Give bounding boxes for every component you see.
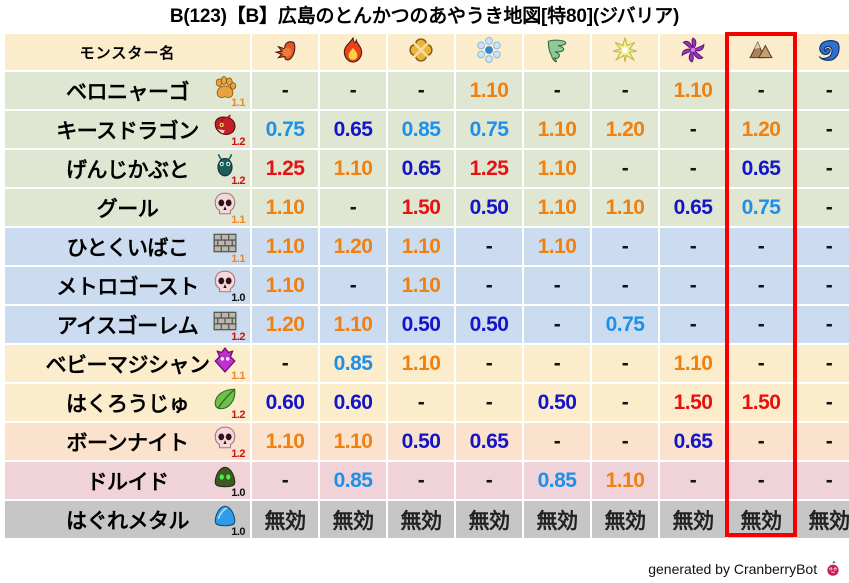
resistance-cell[interactable]: 1.10 (320, 306, 386, 343)
resistance-cell[interactable]: 1.10 (524, 150, 590, 187)
monster-version-badge: 1.2 (231, 332, 245, 343)
resistance-cell[interactable]: 1.10 (524, 111, 590, 148)
monster-name-cell[interactable]: ひとくいばこ1.1 (5, 228, 250, 265)
monster-name-cell[interactable]: ボーンナイト1.2 (5, 423, 250, 460)
resistance-cell[interactable]: - (592, 345, 658, 382)
resistance-cell[interactable]: - (252, 72, 318, 109)
resistance-cell[interactable]: 0.65 (660, 423, 726, 460)
column-header-explosion-icon[interactable] (388, 34, 454, 70)
monster-version-badge: 1.2 (231, 410, 245, 421)
resistance-cell[interactable]: - (796, 306, 849, 343)
mountain-icon (728, 37, 794, 67)
resistance-cell[interactable]: 0.75 (728, 189, 794, 226)
table-row: ベビーマジシャン1.1-0.851.10---1.10-- (5, 345, 849, 382)
resistance-cell[interactable]: - (796, 423, 849, 460)
resistance-cell[interactable]: 1.20 (252, 306, 318, 343)
monster-name-cell[interactable]: ベロニャーゴ1.1 (5, 72, 250, 109)
resistance-cell[interactable]: 0.65 (388, 150, 454, 187)
water-wave-icon (796, 37, 849, 67)
resistance-cell[interactable]: - (660, 462, 726, 499)
page-title: B(123)【B】広島のとんかつのあやうき地図[特80](ジバリア) (0, 0, 849, 32)
resistance-cell[interactable]: - (728, 228, 794, 265)
resistance-cell[interactable]: 1.10 (252, 423, 318, 460)
resistance-cell[interactable]: - (796, 150, 849, 187)
cranberry-icon (825, 561, 841, 577)
resistance-cell[interactable]: 無効 (252, 501, 318, 538)
resistance-cell[interactable]: - (796, 384, 849, 421)
resistance-cell[interactable]: 1.10 (456, 72, 522, 109)
monster-name-cell[interactable]: ドルイド1.0 (5, 462, 250, 499)
resistance-cell[interactable]: - (796, 189, 849, 226)
resistance-table: モンスター名 ベロニャーゴ1.1---1.10--1.10--キースドラゴン1.… (3, 32, 849, 540)
resistance-cell[interactable]: - (320, 72, 386, 109)
resistance-cell[interactable]: 1.10 (388, 228, 454, 265)
resistance-cell[interactable]: 0.50 (456, 189, 522, 226)
header-row: モンスター名 (5, 34, 849, 70)
monster-name-cell[interactable]: メトロゴースト1.0 (5, 267, 250, 304)
snowflake-icon (456, 37, 522, 67)
resistance-cell[interactable]: 0.75 (456, 111, 522, 148)
monster-version-badge: 1.2 (231, 137, 245, 148)
column-header-flame-icon[interactable] (320, 34, 386, 70)
resistance-cell[interactable]: 無効 (388, 501, 454, 538)
resistance-cell[interactable]: - (592, 384, 658, 421)
resistance-cell[interactable]: - (592, 228, 658, 265)
resistance-cell[interactable]: - (320, 189, 386, 226)
resistance-cell[interactable]: - (728, 72, 794, 109)
monster-name-label: メトロゴースト (56, 271, 198, 301)
table-row: ベロニャーゴ1.1---1.10--1.10-- (5, 72, 849, 109)
resistance-cell[interactable]: 1.10 (388, 267, 454, 304)
resistance-cell[interactable]: 1.10 (660, 72, 726, 109)
monster-name-label: はぐれメタル (66, 505, 189, 535)
resistance-cell[interactable]: 1.10 (592, 462, 658, 499)
resistance-cell[interactable]: - (796, 111, 849, 148)
resistance-cell[interactable]: 1.20 (592, 111, 658, 148)
resistance-cell[interactable]: - (592, 267, 658, 304)
resistance-cell[interactable]: - (728, 306, 794, 343)
resistance-cell[interactable]: - (456, 345, 522, 382)
resistance-cell[interactable]: 無効 (524, 501, 590, 538)
column-header-mountain-icon[interactable] (728, 34, 794, 70)
monster-name-label: グール (97, 193, 159, 223)
monster-version-badge: 1.1 (231, 254, 245, 265)
column-header-water-wave-icon[interactable] (796, 34, 849, 70)
resistance-cell[interactable]: 1.50 (388, 189, 454, 226)
resistance-cell[interactable]: 0.65 (728, 150, 794, 187)
monster-name-label: げんじかぶと (66, 154, 189, 184)
monster-name-cell[interactable]: アイスゴーレム1.2 (5, 306, 250, 343)
resistance-cell[interactable]: 0.60 (252, 384, 318, 421)
monster-version-badge: 1.0 (231, 293, 245, 304)
resistance-cell[interactable]: - (388, 462, 454, 499)
table-row: ひとくいばこ1.11.101.201.10-1.10---- (5, 228, 849, 265)
resistance-cell[interactable]: - (796, 345, 849, 382)
monster-name-label: ベロニャーゴ (66, 76, 189, 106)
table-row: メトロゴースト1.01.10-1.10------ (5, 267, 849, 304)
resistance-cell[interactable]: 0.60 (320, 384, 386, 421)
resistance-cell[interactable]: - (728, 423, 794, 460)
column-header-dark-swirl-icon[interactable] (660, 34, 726, 70)
table-row: キースドラゴン1.20.750.650.850.751.101.20-1.20- (5, 111, 849, 148)
monster-name-cell[interactable]: キースドラゴン1.2 (5, 111, 250, 148)
column-header-monster-name: モンスター名 (5, 34, 250, 70)
resistance-cell[interactable]: - (796, 228, 849, 265)
resistance-cell[interactable]: 1.20 (320, 228, 386, 265)
table-row: はぐれメタル1.0無効無効無効無効無効無効無効無効無効 (5, 501, 849, 538)
resistance-cell[interactable]: 1.10 (252, 189, 318, 226)
resistance-cell[interactable]: 1.10 (524, 189, 590, 226)
resistance-cell[interactable]: - (456, 228, 522, 265)
resistance-cell[interactable]: - (388, 384, 454, 421)
resistance-cell[interactable]: 0.50 (388, 306, 454, 343)
monster-version-badge: 1.1 (231, 215, 245, 226)
monster-name-cell[interactable]: はぐれメタル1.0 (5, 501, 250, 538)
monster-version-badge: 1.1 (231, 371, 245, 382)
monster-name-label: ドルイド (87, 466, 169, 496)
resistance-cell[interactable]: 0.85 (320, 345, 386, 382)
resistance-cell[interactable]: - (592, 150, 658, 187)
resistance-cell[interactable]: - (660, 150, 726, 187)
resistance-cell[interactable]: - (660, 111, 726, 148)
column-header-meteor-fire-icon[interactable] (252, 34, 318, 70)
monster-name-label: ひとくいばこ (67, 232, 189, 262)
table-header: モンスター名 (5, 34, 849, 70)
resistance-cell[interactable]: 無効 (660, 501, 726, 538)
tornado-icon (524, 37, 590, 67)
resistance-cell[interactable]: - (388, 72, 454, 109)
resistance-cell[interactable]: - (524, 345, 590, 382)
resistance-cell[interactable]: 1.10 (660, 345, 726, 382)
resistance-cell[interactable]: 1.50 (660, 384, 726, 421)
resistance-cell[interactable]: - (456, 462, 522, 499)
resistance-cell[interactable]: - (524, 267, 590, 304)
resistance-cell[interactable]: 1.10 (252, 228, 318, 265)
resistance-cell[interactable]: 1.10 (524, 228, 590, 265)
resistance-cell[interactable]: - (252, 345, 318, 382)
resistance-cell[interactable]: - (524, 72, 590, 109)
resistance-cell[interactable]: 0.75 (592, 306, 658, 343)
resistance-cell[interactable]: - (660, 228, 726, 265)
resistance-cell[interactable]: - (456, 384, 522, 421)
resistance-cell[interactable]: - (456, 267, 522, 304)
monster-name-label: キースドラゴン (56, 115, 198, 145)
resistance-cell[interactable]: - (728, 462, 794, 499)
resistance-cell[interactable]: 1.10 (320, 423, 386, 460)
resistance-cell[interactable]: 無効 (728, 501, 794, 538)
column-header-snowflake-icon[interactable] (456, 34, 522, 70)
resistance-cell[interactable]: 1.10 (320, 150, 386, 187)
resistance-cell[interactable]: - (796, 72, 849, 109)
resistance-cell[interactable]: - (320, 267, 386, 304)
resistance-cell[interactable]: 0.65 (456, 423, 522, 460)
monster-name-cell[interactable]: はくろうじゅ1.2 (5, 384, 250, 421)
monster-name-cell[interactable]: ベビーマジシャン1.1 (5, 345, 250, 382)
table-row: はくろうじゅ1.20.600.60--0.50-1.501.50- (5, 384, 849, 421)
resistance-cell[interactable]: - (524, 423, 590, 460)
table-body: ベロニャーゴ1.1---1.10--1.10--キースドラゴン1.20.750.… (5, 72, 849, 538)
footer-text: generated by CranberryBot (648, 561, 817, 577)
resistance-cell[interactable]: - (728, 267, 794, 304)
light-star-icon (592, 37, 658, 67)
resistance-cell[interactable]: 0.50 (524, 384, 590, 421)
resistance-cell[interactable]: - (728, 345, 794, 382)
dark-swirl-icon (660, 37, 726, 67)
meteor-fire-icon (252, 37, 318, 67)
monster-name-label: ベビーマジシャン (46, 349, 210, 379)
column-header-tornado-icon[interactable] (524, 34, 590, 70)
monster-version-badge: 1.2 (231, 176, 245, 187)
resistance-cell[interactable]: - (796, 267, 849, 304)
resistance-cell[interactable]: 0.85 (320, 462, 386, 499)
resistance-cell[interactable]: - (592, 423, 658, 460)
resistance-table-wrapper: モンスター名 ベロニャーゴ1.1---1.10--1.10--キースドラゴン1.… (0, 32, 849, 540)
resistance-cell[interactable]: 0.50 (456, 306, 522, 343)
resistance-cell[interactable]: - (660, 306, 726, 343)
resistance-cell[interactable]: - (524, 306, 590, 343)
resistance-cell[interactable]: - (796, 462, 849, 499)
flame-icon (320, 37, 386, 67)
footer-credit: generated by CranberryBot (648, 561, 841, 577)
table-row: アイスゴーレム1.21.201.100.500.50-0.75--- (5, 306, 849, 343)
resistance-cell[interactable]: 無効 (320, 501, 386, 538)
resistance-cell[interactable]: 無効 (592, 501, 658, 538)
table-row: ボーンナイト1.21.101.100.500.65--0.65-- (5, 423, 849, 460)
resistance-cell[interactable]: 0.85 (524, 462, 590, 499)
resistance-cell[interactable]: 0.75 (252, 111, 318, 148)
monster-version-badge: 1.1 (231, 98, 245, 109)
resistance-cell[interactable]: 1.25 (252, 150, 318, 187)
resistance-cell[interactable]: 無効 (456, 501, 522, 538)
table-row: ドルイド1.0-0.85--0.851.10--- (5, 462, 849, 499)
monster-name-cell[interactable]: げんじかぶと1.2 (5, 150, 250, 187)
explosion-icon (388, 37, 454, 67)
resistance-cell[interactable]: - (252, 462, 318, 499)
column-header-light-star-icon[interactable] (592, 34, 658, 70)
resistance-cell[interactable]: 1.50 (728, 384, 794, 421)
monster-name-label: アイスゴーレム (57, 310, 198, 340)
resistance-cell[interactable]: 1.20 (728, 111, 794, 148)
monster-version-badge: 1.0 (231, 527, 245, 538)
resistance-cell[interactable]: 1.10 (252, 267, 318, 304)
monster-version-badge: 1.2 (231, 449, 245, 460)
resistance-cell[interactable]: 1.10 (388, 345, 454, 382)
resistance-cell[interactable]: 1.25 (456, 150, 522, 187)
table-row: グール1.11.10-1.500.501.101.100.650.75- (5, 189, 849, 226)
table-row: げんじかぶと1.21.251.100.651.251.10--0.65- (5, 150, 849, 187)
monster-name-label: ボーンナイト (67, 427, 189, 457)
resistance-cell[interactable]: 無効 (796, 501, 849, 538)
monster-name-label: はくろうじゅ (66, 388, 189, 418)
resistance-cell[interactable]: 0.65 (320, 111, 386, 148)
resistance-cell[interactable]: 0.65 (660, 189, 726, 226)
monster-version-badge: 1.0 (231, 488, 245, 499)
resistance-cell[interactable]: - (592, 72, 658, 109)
resistance-cell[interactable]: 1.10 (592, 189, 658, 226)
resistance-cell[interactable]: 0.85 (388, 111, 454, 148)
resistance-cell[interactable]: - (660, 267, 726, 304)
resistance-cell[interactable]: 0.50 (388, 423, 454, 460)
monster-name-cell[interactable]: グール1.1 (5, 189, 250, 226)
